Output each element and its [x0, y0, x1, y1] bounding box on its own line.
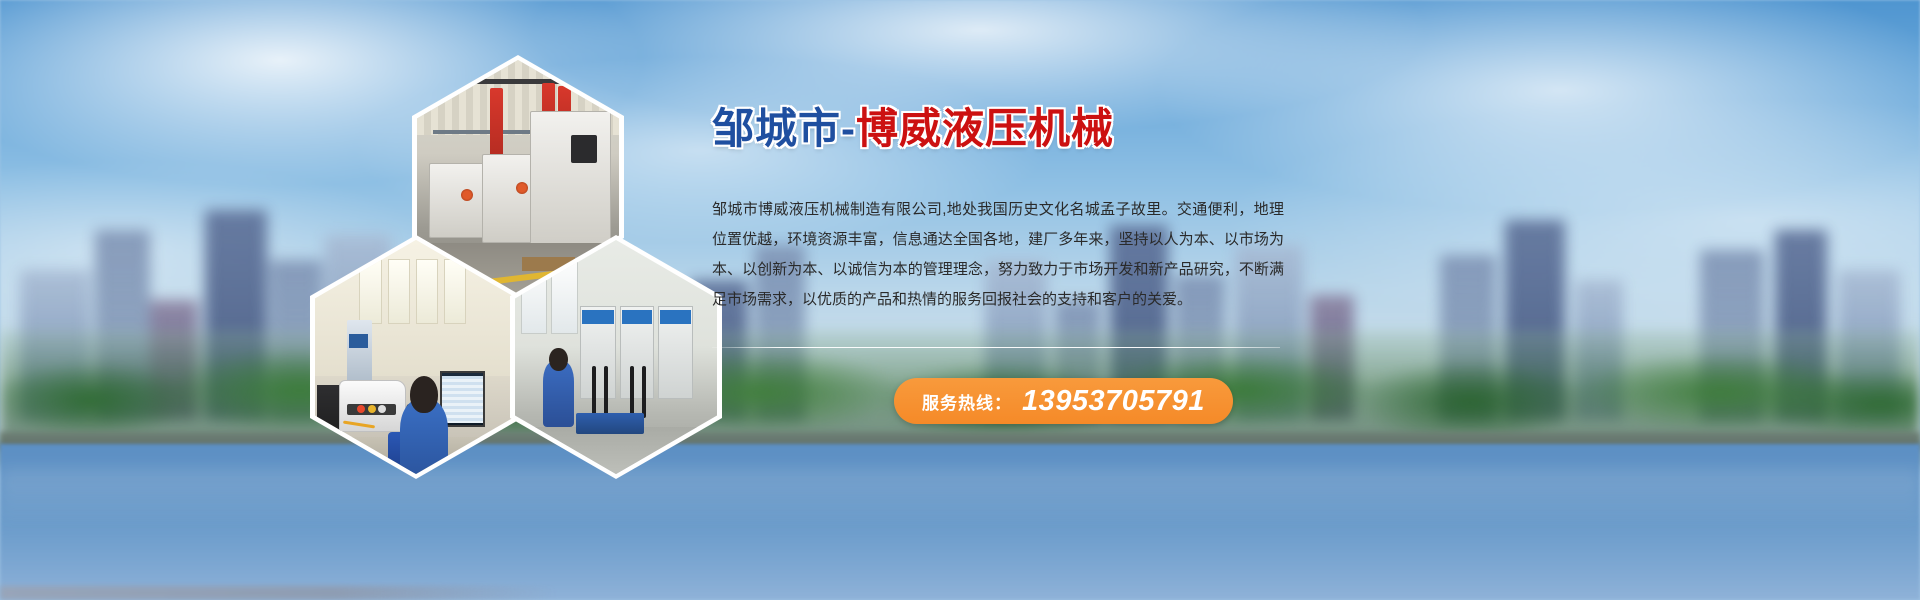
- water-foreground-edge: [0, 586, 560, 600]
- page-title: 邹城市-博威液压机械: [712, 105, 1292, 153]
- hotline-number[interactable]: 13953705791: [1022, 385, 1205, 418]
- hotline-badge[interactable]: 服务热线： 13953705791: [894, 378, 1233, 424]
- banner-text-column: 邹城市-博威液压机械 邹城市博威液压机械制造有限公司,地处我国历史文化名城孟子故…: [712, 105, 1292, 424]
- title-company-part: 博威液压机械: [856, 105, 1114, 152]
- hotline-label: 服务热线：: [922, 389, 1012, 414]
- hexagon-photo-cluster: [300, 55, 700, 445]
- water-reflection: [0, 470, 1920, 530]
- section-divider: [712, 347, 1280, 348]
- title-city-part: 邹城市-: [712, 105, 856, 152]
- company-description: 邹城市博威液压机械制造有限公司,地处我国历史文化名城孟子故里。交通便利，地理位置…: [712, 195, 1284, 315]
- company-hero-banner: 邹城市-博威液压机械 邹城市博威液压机械制造有限公司,地处我国历史文化名城孟子故…: [0, 0, 1920, 600]
